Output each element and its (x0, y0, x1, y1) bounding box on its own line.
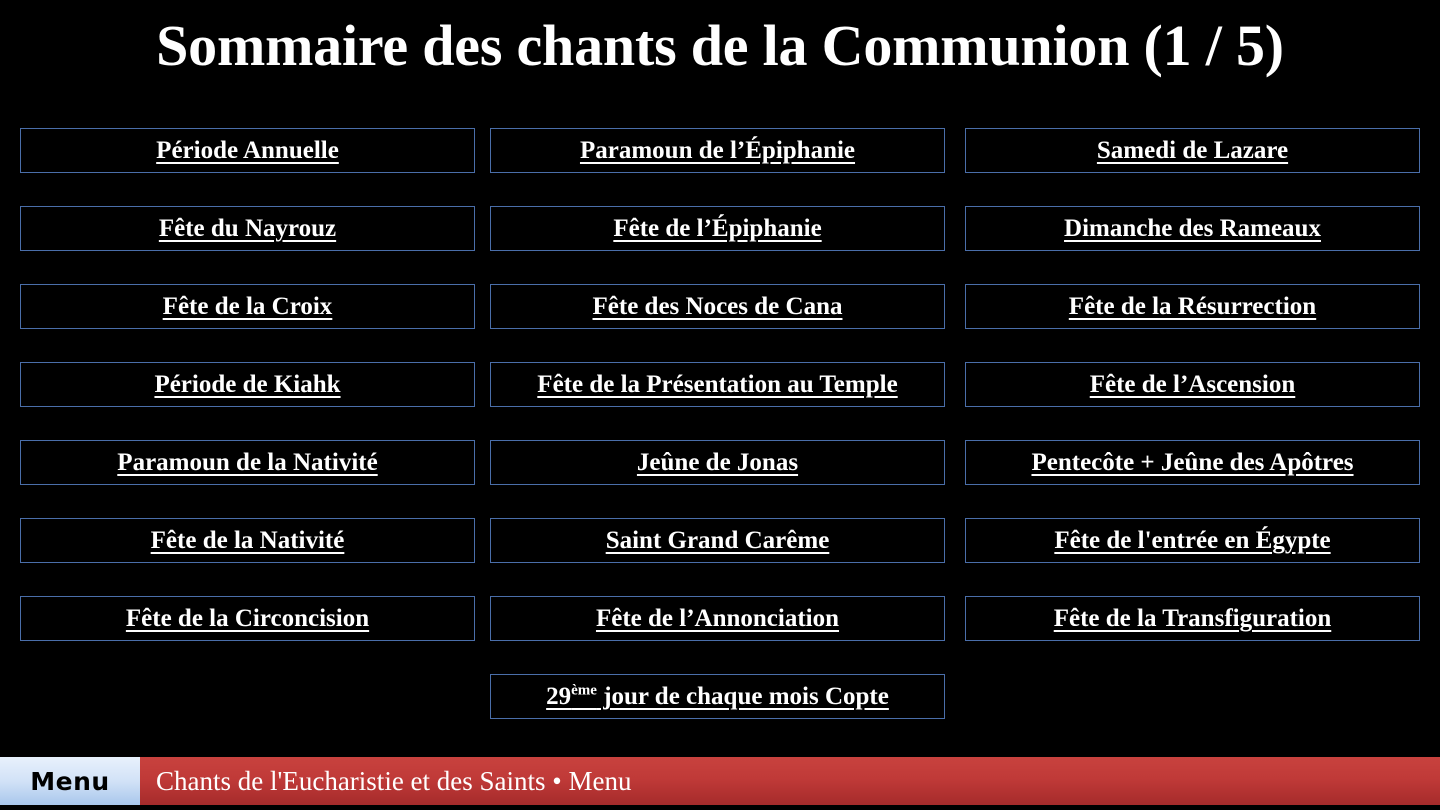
nav-button-label: Fête de la Croix (163, 294, 333, 319)
nav-button-label: Période de Kiahk (154, 372, 340, 397)
nav-button-label: Fête des Noces de Cana (593, 294, 843, 319)
nav-button-label: Période Annuelle (156, 138, 339, 163)
nav-button-label: Fête de la Nativité (151, 528, 345, 553)
nav-button[interactable]: Fête de la Transfiguration (965, 596, 1420, 641)
nav-button[interactable]: Fête de l'entrée en Égypte (965, 518, 1420, 563)
nav-button-label: 29ème jour de chaque mois Copte (546, 684, 889, 709)
nav-button[interactable]: Fête de l’Épiphanie (490, 206, 945, 251)
nav-button[interactable]: Fête de la Nativité (20, 518, 475, 563)
nav-button[interactable]: 29ème jour de chaque mois Copte (490, 674, 945, 719)
nav-button[interactable]: Fête de la Croix (20, 284, 475, 329)
nav-button-label: Samedi de Lazare (1097, 138, 1288, 163)
nav-button[interactable]: Fête de l’Ascension (965, 362, 1420, 407)
nav-button[interactable]: Fête des Noces de Cana (490, 284, 945, 329)
nav-button-label: Fête de la Transfiguration (1054, 606, 1332, 631)
nav-button-label: Fête de l’Épiphanie (613, 216, 821, 241)
nav-button[interactable]: Pentecôte + Jeûne des Apôtres (965, 440, 1420, 485)
nav-button-label: Fête de l’Annonciation (596, 606, 839, 631)
page-title: Sommaire des chants de la Communion (1 /… (0, 0, 1440, 92)
nav-button-label: Fête de l'entrée en Égypte (1054, 528, 1330, 553)
button-column-1: Période AnnuelleFête du NayrouzFête de l… (20, 128, 475, 674)
nav-button-label: Jeûne de Jonas (637, 450, 798, 475)
nav-button-label: Fête du Nayrouz (159, 216, 336, 241)
nav-button-label: Pentecôte + Jeûne des Apôtres (1031, 450, 1353, 475)
nav-button-label: Saint Grand Carême (606, 528, 830, 553)
nav-button-label: Paramoun de l’Épiphanie (580, 138, 855, 163)
nav-button[interactable]: Fête de l’Annonciation (490, 596, 945, 641)
nav-button[interactable]: Paramoun de l’Épiphanie (490, 128, 945, 173)
ordinal-superscript: ème (571, 683, 597, 699)
nav-button-label: Fête de la Résurrection (1069, 294, 1316, 319)
nav-button[interactable]: Fête de la Circoncision (20, 596, 475, 641)
breadcrumb: Chants de l'Eucharistie et des Saints • … (140, 757, 1440, 805)
button-column-2: Paramoun de l’ÉpiphanieFête de l’Épiphan… (490, 128, 945, 752)
menu-button[interactable]: Menu (0, 757, 140, 805)
nav-button[interactable]: Jeûne de Jonas (490, 440, 945, 485)
nav-button[interactable]: Samedi de Lazare (965, 128, 1420, 173)
nav-button-label: Dimanche des Rameaux (1064, 216, 1321, 241)
menu-button-label: Menu (30, 769, 109, 794)
nav-button[interactable]: Saint Grand Carême (490, 518, 945, 563)
nav-button-label: Fête de la Circoncision (126, 606, 369, 631)
nav-button-label: Fête de l’Ascension (1090, 372, 1296, 397)
bottom-status-bar: Menu Chants de l'Eucharistie et des Sain… (0, 757, 1440, 805)
nav-button-label: Fête de la Présentation au Temple (537, 372, 897, 397)
nav-button[interactable]: Fête du Nayrouz (20, 206, 475, 251)
nav-button[interactable]: Fête de la Présentation au Temple (490, 362, 945, 407)
nav-button[interactable]: Dimanche des Rameaux (965, 206, 1420, 251)
nav-button[interactable]: Période de Kiahk (20, 362, 475, 407)
nav-button[interactable]: Période Annuelle (20, 128, 475, 173)
nav-button-label: Paramoun de la Nativité (117, 450, 377, 475)
navigation-button-grid: Période AnnuelleFête du NayrouzFête de l… (0, 128, 1440, 738)
nav-button[interactable]: Fête de la Résurrection (965, 284, 1420, 329)
nav-button[interactable]: Paramoun de la Nativité (20, 440, 475, 485)
button-column-3: Samedi de LazareDimanche des RameauxFête… (965, 128, 1420, 674)
